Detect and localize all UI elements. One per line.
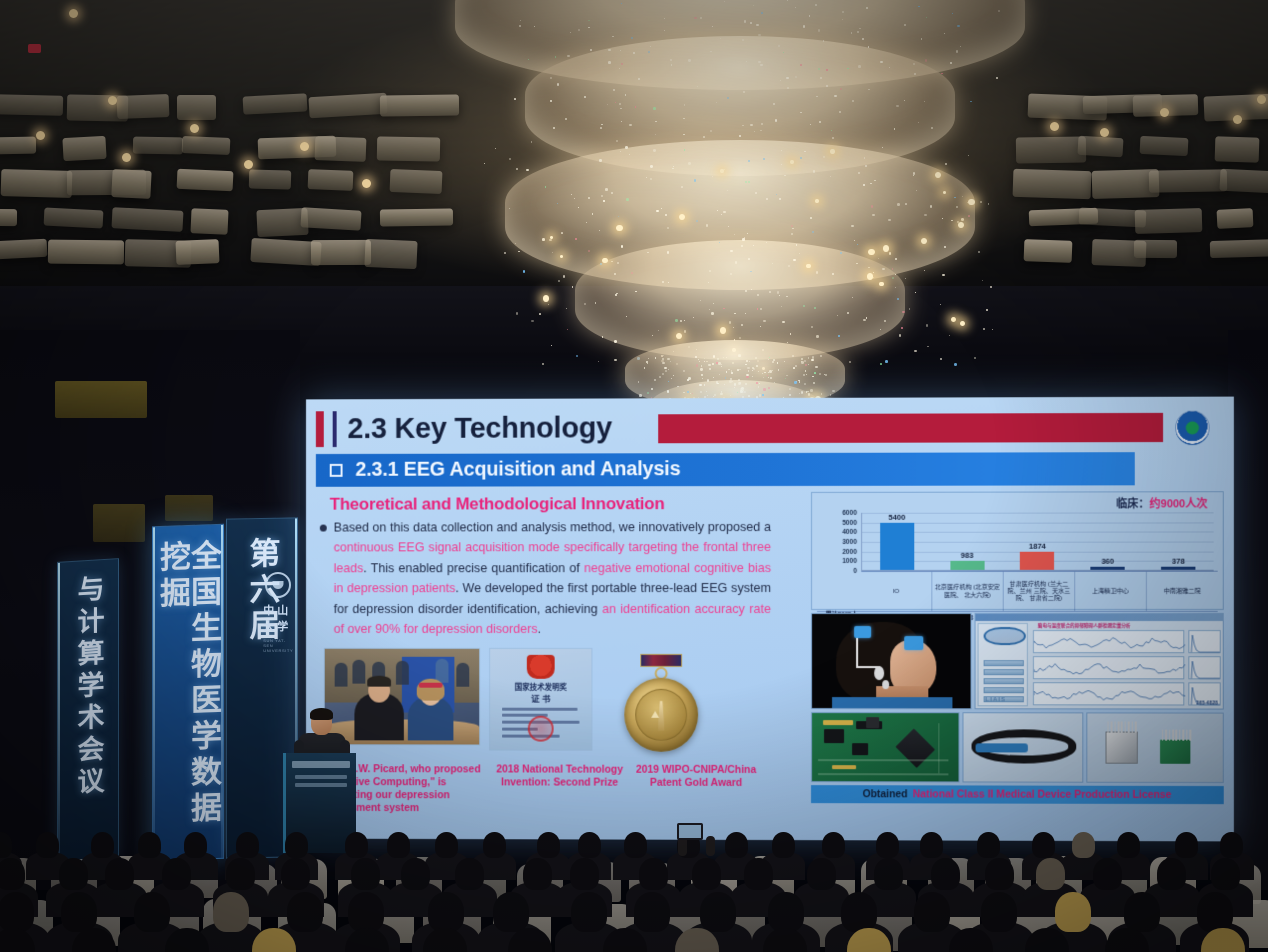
ceiling-slab	[190, 208, 228, 235]
presenter-hair	[310, 708, 333, 720]
chart-bar-value: 5400	[888, 513, 905, 522]
software-titlebar	[975, 614, 1222, 621]
ceiling-spotlight	[300, 142, 309, 151]
sun-yat-sen-university-logo: 中山大学 SUN YAT-SEN UNIVERSITY	[263, 572, 293, 653]
chart-title-prefix: 临床：	[1116, 498, 1149, 510]
pcb-trace	[818, 759, 948, 761]
connector-pin	[1189, 730, 1191, 741]
audience-head	[822, 832, 845, 858]
audience-head	[807, 858, 836, 890]
ceiling-slab	[315, 136, 367, 162]
chart-bar	[880, 523, 914, 570]
chart-bar-value: 983	[961, 550, 974, 559]
ceiling-slab	[0, 137, 35, 155]
checkbox-icon	[330, 464, 343, 477]
body-plain: .	[538, 622, 541, 636]
hardware-photo-row	[811, 712, 1224, 783]
software-sidebar: LIAIS	[977, 623, 1027, 706]
ceiling-spotlight	[362, 179, 371, 188]
caption-row: Prof. R.W. Picard, who proposed "Affecti…	[316, 763, 803, 816]
photo-invention-certificate: 国家技术发明奖 证 书	[489, 648, 592, 751]
ceiling-slab	[377, 137, 441, 162]
medal-disc	[624, 678, 698, 752]
subject-shirt	[832, 697, 952, 708]
photo-eeg-subject	[811, 613, 972, 709]
ceiling-slab	[1135, 208, 1202, 234]
ceiling-spotlight	[108, 96, 117, 105]
eeg-earbud	[882, 680, 889, 689]
eeg-waveform-panel	[1033, 630, 1184, 653]
chart-bar-value: 360	[1101, 557, 1114, 566]
wall-panel-upper-right	[165, 495, 213, 521]
connector-pin	[1135, 722, 1137, 733]
audience-head	[772, 832, 795, 858]
audience-head	[226, 858, 255, 890]
chart-bar	[1020, 552, 1054, 570]
slide-left-column: Theoretical and Methodological Innovatio…	[316, 492, 803, 841]
connector-pin	[1186, 730, 1188, 741]
chart-y-tick: 1000	[842, 558, 857, 565]
audience-head	[387, 832, 410, 858]
audience-head	[0, 858, 25, 890]
chart-bar-cell: 378	[1143, 512, 1214, 569]
chart-y-axis-labels: 6000500040003000200010000	[817, 513, 859, 571]
software-button	[983, 678, 1023, 684]
slide-subtitle: 2.3.1 EEG Acquisition and Analysis	[355, 458, 680, 482]
chart-bar	[1161, 567, 1195, 570]
ceiling-slab	[380, 95, 459, 117]
ceiling-slab	[311, 240, 371, 265]
title-accent-navy	[333, 411, 337, 447]
audience-head	[931, 858, 960, 890]
ceiling-slab	[300, 208, 362, 232]
connector-pin	[1121, 721, 1123, 732]
audience-head	[428, 892, 464, 932]
projection-screen: 2.3 Key Technology 2.3.1 EEG Acquisition…	[306, 397, 1234, 842]
connector-pin	[1131, 722, 1133, 733]
ceiling-spotlight	[1160, 108, 1169, 117]
connector-pin	[1118, 721, 1120, 732]
license-prefix: Obtained	[863, 789, 908, 800]
ceiling-slab	[1024, 239, 1073, 263]
software-title: 脑电与温度联合的抑郁障碍人群检测定量分析	[1038, 623, 1131, 629]
ceiling-slab	[177, 95, 216, 120]
clinical-usage-chart: 临床：约9000人次 6000500040003000200010000 540…	[811, 491, 1224, 610]
ceiling-spotlight	[69, 9, 78, 18]
audience-head	[1093, 858, 1122, 890]
audience-head	[1211, 858, 1240, 890]
audience-head	[435, 832, 458, 858]
body-text: Based on this data collection and analys…	[334, 517, 771, 639]
wall-panel-upper-left	[55, 381, 147, 418]
audience-head	[0, 892, 34, 932]
connector-pin	[1125, 722, 1127, 733]
eeg-analysis-software: 脑电与温度联合的抑郁障碍人群检测定量分析 LIAIS	[974, 613, 1223, 710]
audience-head	[523, 858, 552, 890]
audience-head	[725, 832, 748, 858]
connector-pin	[1179, 730, 1181, 741]
photo-pcb-board	[811, 712, 959, 782]
caption-patent-award: 2019 WIPO-CNIPA/China Patent Gold Award	[629, 764, 763, 816]
pcb-trace	[938, 723, 940, 773]
national-emblem-icon	[527, 655, 555, 679]
podium-text-line	[295, 783, 347, 787]
banner-edge-left	[153, 527, 155, 860]
ceiling-spotlight	[244, 160, 253, 169]
audience-head	[162, 858, 191, 890]
ceiling-slab	[308, 169, 354, 190]
slide-subtitle-bar: 2.3.1 EEG Acquisition and Analysis	[316, 452, 1135, 487]
banner-quanguo: 全国生物医学数据挖掘	[152, 524, 224, 862]
body-paragraph: Based on this data collection and analys…	[316, 517, 803, 639]
audience-head	[483, 832, 506, 858]
audience-head	[1124, 892, 1160, 932]
photo-eeg-headband	[419, 683, 443, 688]
chart-x-axis-table: IO北京医疗机构 (北京安定医院、 北大六院)甘肃医疗机构 (兰大二院、兰州 三…	[861, 571, 1218, 611]
ceiling-slab	[44, 208, 104, 229]
ceiling-slab	[249, 169, 291, 189]
audience-head	[455, 858, 484, 890]
medal-inner-face	[635, 689, 687, 741]
ceiling-slab	[380, 209, 453, 227]
audience-head	[634, 892, 670, 932]
banner-yu-jisuan: 与计算学术会议	[57, 558, 119, 862]
audience-head	[920, 832, 943, 858]
connector-pin	[1128, 722, 1130, 733]
body-plain: Based on this data collection and analys…	[334, 520, 771, 535]
connector-metal-block	[1105, 732, 1137, 764]
eeg-spectrum-panel	[1188, 630, 1220, 653]
connector-pin	[1107, 721, 1109, 732]
connector-pin	[1111, 721, 1113, 732]
ceiling-slab	[1134, 240, 1177, 258]
banner-edge-left	[58, 563, 60, 861]
connector-pin	[1169, 730, 1171, 741]
chart-bar	[1091, 567, 1125, 570]
audience-head	[700, 892, 736, 932]
ceiling-slab	[0, 239, 47, 259]
chart-bar-cell: 5400	[862, 513, 932, 570]
connector-pin	[1114, 721, 1116, 732]
audience-head	[624, 832, 647, 858]
audience-head	[213, 892, 249, 932]
chart-y-tick: 6000	[842, 509, 857, 516]
chart-bar-value: 378	[1172, 557, 1185, 566]
institution-logo-icon	[1175, 411, 1209, 445]
ceiling-slab	[112, 207, 184, 231]
photo-crowd-figure	[456, 663, 469, 687]
ceiling-slab	[1016, 137, 1087, 164]
audience-head	[571, 892, 607, 932]
photo-person-man-hair	[367, 676, 391, 687]
pcb-chip	[852, 743, 868, 755]
audience-head	[874, 858, 903, 890]
presenter-microphone	[28, 44, 41, 53]
connector-pin	[1165, 730, 1167, 741]
chart-x-label: 甘肃医疗机构 (兰大二院、兰州 三院、天水三院、 甘肃省二院)	[1004, 572, 1076, 611]
ceiling-slab	[242, 93, 306, 114]
pcb-connector	[866, 717, 879, 728]
body-plain: . This enabled precise quantification of	[363, 561, 583, 575]
pcb-main-chip	[895, 728, 935, 768]
audience-head	[537, 832, 560, 858]
certificate-seal-icon	[528, 716, 554, 742]
pcb-chip	[824, 729, 844, 743]
eeg-earclip	[874, 666, 884, 680]
medal-ribbon	[640, 654, 682, 667]
certificate-text-line	[502, 708, 578, 711]
slide-title-row: 2.3 Key Technology	[316, 405, 1224, 451]
audience-head	[578, 832, 601, 858]
headband-thumbnail-icon	[983, 627, 1025, 645]
podium-text-line	[295, 775, 347, 779]
chart-bar-cell: 360	[1073, 512, 1143, 569]
chart-bar-cell: 1874	[1002, 513, 1072, 570]
bullet-icon	[320, 525, 327, 532]
ceiling-slab	[48, 240, 124, 264]
audience-head	[134, 892, 170, 932]
connector-pin	[1182, 730, 1184, 741]
audience-head	[1175, 832, 1198, 858]
ceiling-slab	[112, 169, 152, 198]
audience-head	[1072, 832, 1095, 858]
chart-x-label: 中南湘雅二院	[1147, 572, 1218, 611]
audience-head	[1117, 832, 1140, 858]
ceiling-slab	[1219, 169, 1268, 194]
ceiling-slab	[1216, 208, 1253, 229]
ceiling-slab	[117, 94, 170, 119]
chart-title: 临床：约9000人次	[817, 495, 1218, 512]
section-heading: Theoretical and Methodological Innovatio…	[330, 494, 803, 515]
audience-head	[345, 832, 368, 858]
audience-head	[981, 892, 1017, 932]
eeg-electrode-top	[854, 626, 871, 638]
title-accent-red	[316, 411, 324, 447]
ceiling-slab	[176, 239, 220, 265]
pcb-pad	[832, 765, 856, 769]
presentation-slide: 2.3 Key Technology 2.3.1 EEG Acquisition…	[306, 397, 1234, 842]
chart-bars: 54009831874360378	[862, 512, 1214, 570]
ceiling-slab	[1077, 136, 1123, 157]
audience-head	[1157, 858, 1186, 890]
banner-quanguo-text: 全国生物医学数据挖掘	[157, 539, 219, 860]
audience-head	[493, 892, 529, 932]
ceiling-spotlight	[1233, 115, 1242, 124]
slide-columns: Theoretical and Methodological Innovatio…	[316, 491, 1224, 841]
audience-head	[985, 858, 1014, 890]
chart-plot-area: 54009831874360378	[861, 512, 1214, 571]
audience-head	[36, 832, 59, 858]
audience-head	[768, 892, 804, 932]
audience-head	[977, 832, 1000, 858]
eeg-demo-row: 脑电与温度联合的抑郁障碍人群检测定量分析 LIAIS	[811, 613, 1224, 710]
connector-pin	[1176, 730, 1178, 741]
chart-bar	[950, 560, 984, 569]
wall-panel-upper-mid	[93, 504, 145, 542]
chart-bar-cell: 983	[932, 513, 1002, 570]
ceiling-spotlight	[36, 131, 45, 140]
audience-head	[1032, 832, 1055, 858]
ceiling-slab	[0, 169, 72, 198]
eeg-waveform	[1034, 657, 1185, 680]
conference-hall-photo: 与计算学术会议 全国生物医学数据挖掘 第六届 中山大学 SUN YAT-SEN …	[0, 0, 1268, 952]
photo-crowd-figure	[352, 660, 365, 684]
title-red-bar	[658, 413, 1163, 443]
license-banner: Obtained National Class II Medical Devic…	[811, 785, 1224, 804]
university-name-cn: 中山大学	[263, 602, 293, 634]
audience-head	[91, 832, 114, 858]
software-button	[983, 669, 1023, 675]
ceiling	[0, 0, 1268, 330]
audience-head	[285, 832, 308, 858]
audience-head	[59, 858, 88, 890]
photo-crowd-figure	[335, 663, 348, 687]
chart-x-label: IO	[861, 572, 932, 611]
chart-title-value: 约9000人次	[1149, 498, 1207, 510]
ceiling-slab	[389, 169, 442, 194]
ceiling-slab	[177, 169, 234, 192]
photo-electrode-connectors	[1086, 712, 1224, 783]
audience-head	[841, 892, 877, 932]
audience-head	[570, 858, 599, 890]
audience-head	[1220, 832, 1243, 858]
audience-head	[0, 832, 12, 858]
ceiling-slab	[1149, 169, 1228, 192]
university-name-en: SUN YAT-SEN UNIVERSITY	[263, 638, 293, 653]
audience-head	[1055, 892, 1091, 932]
headband-blue-section	[975, 743, 1027, 752]
software-button	[983, 660, 1023, 666]
photo-crowd-figure	[396, 661, 409, 685]
caption-invention-prize: 2018 National Technology Invention: Seco…	[496, 764, 623, 816]
audience-phone	[677, 823, 703, 840]
audience-head	[348, 892, 384, 932]
eeg-wire	[856, 638, 858, 668]
eeg-waveform	[1034, 631, 1185, 654]
audience-head	[744, 858, 773, 890]
ceiling-slab	[0, 94, 63, 115]
eeg-waveform-panel	[1033, 656, 1184, 679]
audience-head	[61, 892, 97, 932]
ceiling-slab	[1139, 136, 1188, 156]
audience-hand-right	[706, 836, 715, 856]
photo-eeg-headband-device	[962, 712, 1083, 782]
podium-logo	[292, 761, 350, 768]
photo-patent-gold-medal	[601, 648, 721, 760]
eeg-waveform	[1034, 683, 1185, 706]
certificate-title-line1: 国家技术发明奖	[515, 682, 567, 693]
audience-head	[692, 858, 721, 890]
ceiling-slab	[1012, 169, 1091, 199]
audience-head	[1197, 892, 1233, 932]
ceiling-slab	[62, 136, 106, 162]
banner-yu-jisuan-text: 与计算学术会议	[75, 574, 102, 800]
medal-star-icon	[651, 711, 659, 718]
ceiling-spotlight	[1050, 122, 1059, 131]
award-photo-row: 国家技术发明奖 证 书	[316, 648, 803, 760]
audience-head	[401, 858, 430, 890]
stage-wall-right	[1228, 330, 1268, 890]
ceiling-spotlight	[1257, 95, 1266, 104]
audience-head	[914, 892, 950, 932]
ceiling-slab	[133, 137, 183, 154]
audience-head	[876, 832, 899, 858]
pcb-trace	[818, 773, 948, 775]
audience-head	[281, 858, 310, 890]
chart-y-tick: 5000	[842, 519, 857, 526]
ceiling-slab	[1210, 239, 1268, 258]
ceiling-slab	[1214, 137, 1259, 164]
connector-pin	[1172, 730, 1174, 741]
eeg-spectrum-panel	[1188, 656, 1220, 679]
software-readout: 365-4828	[1196, 700, 1217, 706]
chart-y-tick: 4000	[842, 529, 857, 536]
slide-title: 2.3 Key Technology	[348, 412, 612, 446]
chart-x-label: 上海精卫中心	[1075, 572, 1147, 611]
audience-head	[236, 832, 259, 858]
eeg-electrode-frontal	[904, 636, 923, 650]
certificate-title-line2: 证 书	[531, 693, 550, 705]
audience-head	[184, 832, 207, 858]
ceiling-slab	[0, 209, 17, 226]
chart-y-tick: 2000	[842, 548, 857, 555]
chart-x-label: 北京医疗机构 (北京安定医院、 北大六院)	[932, 572, 1003, 611]
photo-picard-evaluation	[324, 648, 480, 746]
ceiling-slab	[182, 136, 231, 156]
audience-head	[105, 858, 134, 890]
connector-pin	[1162, 730, 1164, 741]
chart-y-tick: 3000	[842, 538, 857, 545]
university-crest-icon	[265, 572, 291, 598]
license-highlight: National Class II Medical Device Product…	[913, 789, 1172, 801]
ceiling-spotlight	[190, 124, 199, 133]
software-logo: LIAIS	[985, 697, 1005, 703]
audience-head	[1036, 858, 1065, 890]
software-button	[983, 687, 1023, 693]
connector-green-board	[1160, 740, 1190, 764]
eeg-waveform-panel	[1033, 682, 1184, 705]
pcb-pad	[823, 720, 853, 725]
ceiling-spotlight	[1100, 128, 1109, 137]
audience	[0, 828, 1268, 952]
audience-head	[287, 892, 323, 932]
slide-right-column: 临床：约9000人次 6000500040003000200010000 540…	[811, 491, 1224, 841]
audience-head	[138, 832, 161, 858]
chart-bar-value: 1874	[1029, 542, 1046, 551]
audience-head	[351, 858, 380, 890]
ceiling-spotlight	[122, 153, 131, 162]
ceiling-slab	[364, 239, 417, 269]
chart-y-tick: 0	[853, 567, 857, 574]
audience-head	[639, 858, 668, 890]
